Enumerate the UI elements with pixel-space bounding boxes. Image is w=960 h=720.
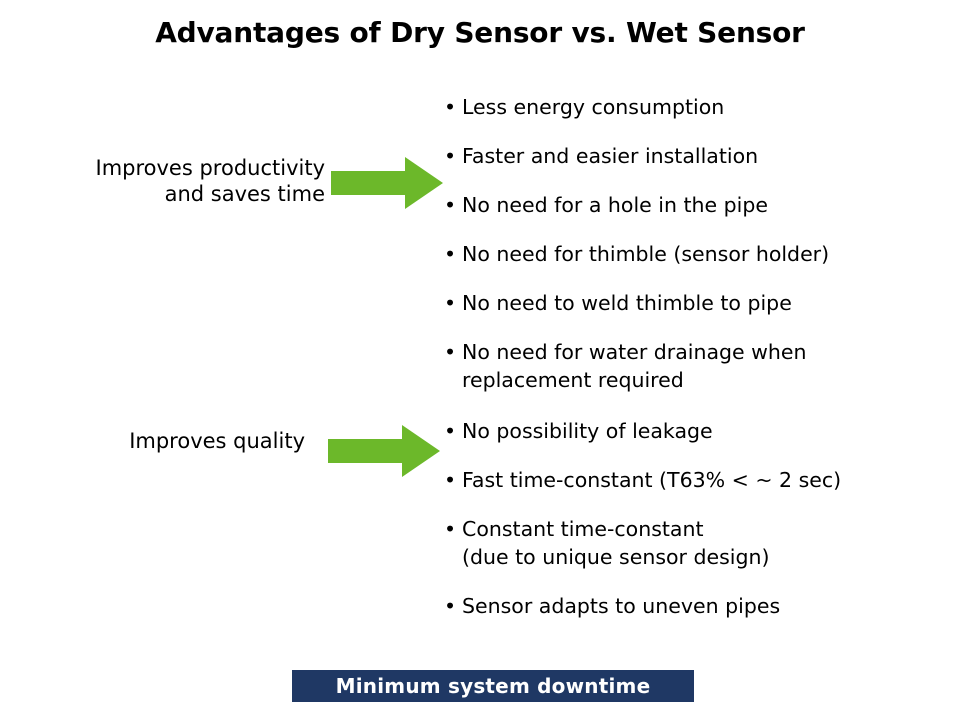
slide-canvas: Advantages of Dry Sensor vs. Wet Sensor …: [0, 0, 960, 720]
list-item: • No need for water drainage when replac…: [441, 338, 946, 394]
list-item: • No need for thimble (sensor holder): [441, 240, 946, 268]
list-item: • Fast time-constant (T63% < ~ 2 sec): [441, 466, 946, 494]
list-item-label: No need for water drainage when replacem…: [462, 338, 946, 394]
list-item-label: Constant time-constant (due to unique se…: [462, 515, 946, 571]
list-item: • Sensor adapts to uneven pipes: [441, 592, 946, 620]
list-item-label: Sensor adapts to uneven pipes: [462, 592, 946, 620]
list-item: • Faster and easier installation: [441, 142, 946, 170]
category-label-improves-productivity: Improves productivity and saves time: [20, 155, 325, 207]
list-item-label: Less energy consumption: [462, 93, 946, 121]
list-item-label: No need for thimble (sensor holder): [462, 240, 946, 268]
list-item-label: Faster and easier installation: [462, 142, 946, 170]
bullet-dot-icon: •: [444, 466, 456, 494]
list-item: • Less energy consumption: [441, 93, 946, 121]
bullet-dot-icon: •: [444, 417, 456, 445]
right-arrow-icon: [331, 157, 443, 209]
summary-banner-label: Minimum system downtime: [336, 674, 651, 698]
list-item-label: No need to weld thimble to pipe: [462, 289, 946, 317]
list-item-label: Fast time-constant (T63% < ~ 2 sec): [462, 466, 946, 494]
list-item: • No need to weld thimble to pipe: [441, 289, 946, 317]
bullet-dot-icon: •: [444, 93, 456, 121]
bullet-dot-icon: •: [444, 515, 456, 543]
bullet-dot-icon: •: [444, 142, 456, 170]
category-label-improves-quality: Improves quality: [20, 428, 305, 454]
bullet-dot-icon: •: [444, 240, 456, 268]
list-item: • No need for a hole in the pipe: [441, 191, 946, 219]
page-title: Advantages of Dry Sensor vs. Wet Sensor: [0, 16, 960, 49]
bullet-dot-icon: •: [444, 289, 456, 317]
bullet-dot-icon: •: [444, 592, 456, 620]
list-item-label: No need for a hole in the pipe: [462, 191, 946, 219]
bullet-dot-icon: •: [444, 338, 456, 366]
list-item: • No possibility of leakage: [441, 417, 946, 445]
bullet-dot-icon: •: [444, 191, 456, 219]
summary-banner: Minimum system downtime: [292, 670, 694, 702]
list-item-label: No possibility of leakage: [462, 417, 946, 445]
list-item: • Constant time-constant (due to unique …: [441, 515, 946, 571]
bullet-list-improves-productivity: • Less energy consumption • Faster and e…: [441, 93, 946, 394]
right-arrow-icon: [328, 425, 440, 477]
bullet-list-improves-quality: • No possibility of leakage • Fast time-…: [441, 417, 946, 620]
